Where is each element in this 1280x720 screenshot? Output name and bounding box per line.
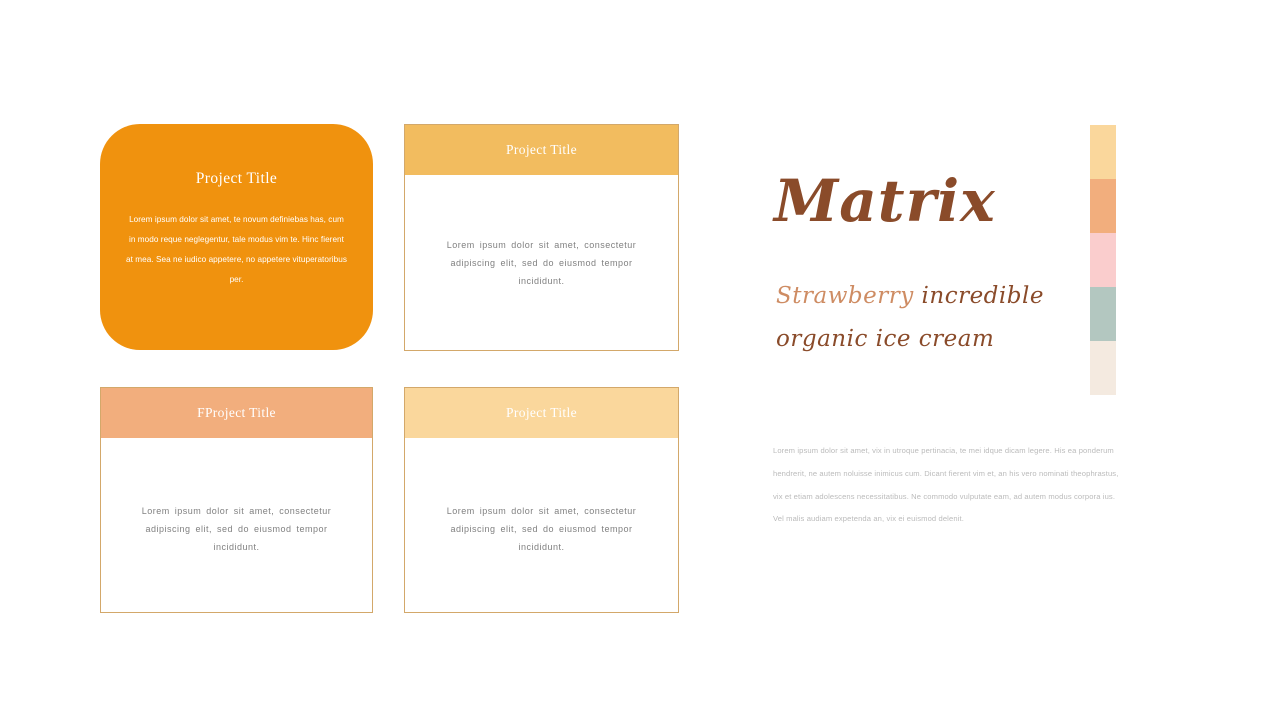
matrix-card-2[interactable]: Project Title Lorem ipsum dolor sit amet… [404, 124, 679, 351]
card-header-band: Project Title [405, 388, 678, 438]
swatch-soft-pink [1090, 233, 1116, 287]
card-title: Project Title [196, 170, 277, 188]
card-header-band: Project Title [405, 125, 678, 175]
swatch-sage-green [1090, 287, 1116, 341]
card-body-text: Lorem ipsum dolor sit amet, consectetur … [127, 502, 346, 556]
body-paragraph: Lorem ipsum dolor sit amet, vix in utroq… [773, 440, 1123, 531]
slide-canvas: Project Title Lorem ipsum dolor sit amet… [0, 0, 1280, 720]
card-body-text: Lorem ipsum dolor sit amet, te novum def… [126, 210, 347, 290]
subtitle: Strawberry incredible organic ice cream [776, 275, 1076, 360]
card-title: Project Title [506, 142, 577, 158]
matrix-card-4[interactable]: Project Title Lorem ipsum dolor sit amet… [404, 387, 679, 613]
swatch-apricot-light [1090, 125, 1116, 179]
subtitle-accent-word: Strawberry [776, 283, 914, 309]
card-header-band: FProject Title [101, 388, 372, 438]
color-palette-strip [1090, 125, 1116, 395]
swatch-salmon-orange [1090, 179, 1116, 233]
page-title: Matrix [774, 172, 996, 230]
card-title: Project Title [506, 405, 577, 421]
card-body-text: Lorem ipsum dolor sit amet, consectetur … [431, 236, 652, 290]
card-body-text: Lorem ipsum dolor sit amet, consectetur … [431, 502, 652, 556]
card-body: Lorem ipsum dolor sit amet, consectetur … [405, 438, 678, 612]
matrix-card-3[interactable]: FProject Title Lorem ipsum dolor sit ame… [100, 387, 373, 613]
card-body: Lorem ipsum dolor sit amet, consectetur … [405, 175, 678, 350]
card-body: Lorem ipsum dolor sit amet, consectetur … [101, 438, 372, 612]
swatch-cream-linen [1090, 341, 1116, 395]
matrix-card-1[interactable]: Project Title Lorem ipsum dolor sit amet… [100, 124, 373, 350]
card-title: FProject Title [197, 405, 276, 421]
